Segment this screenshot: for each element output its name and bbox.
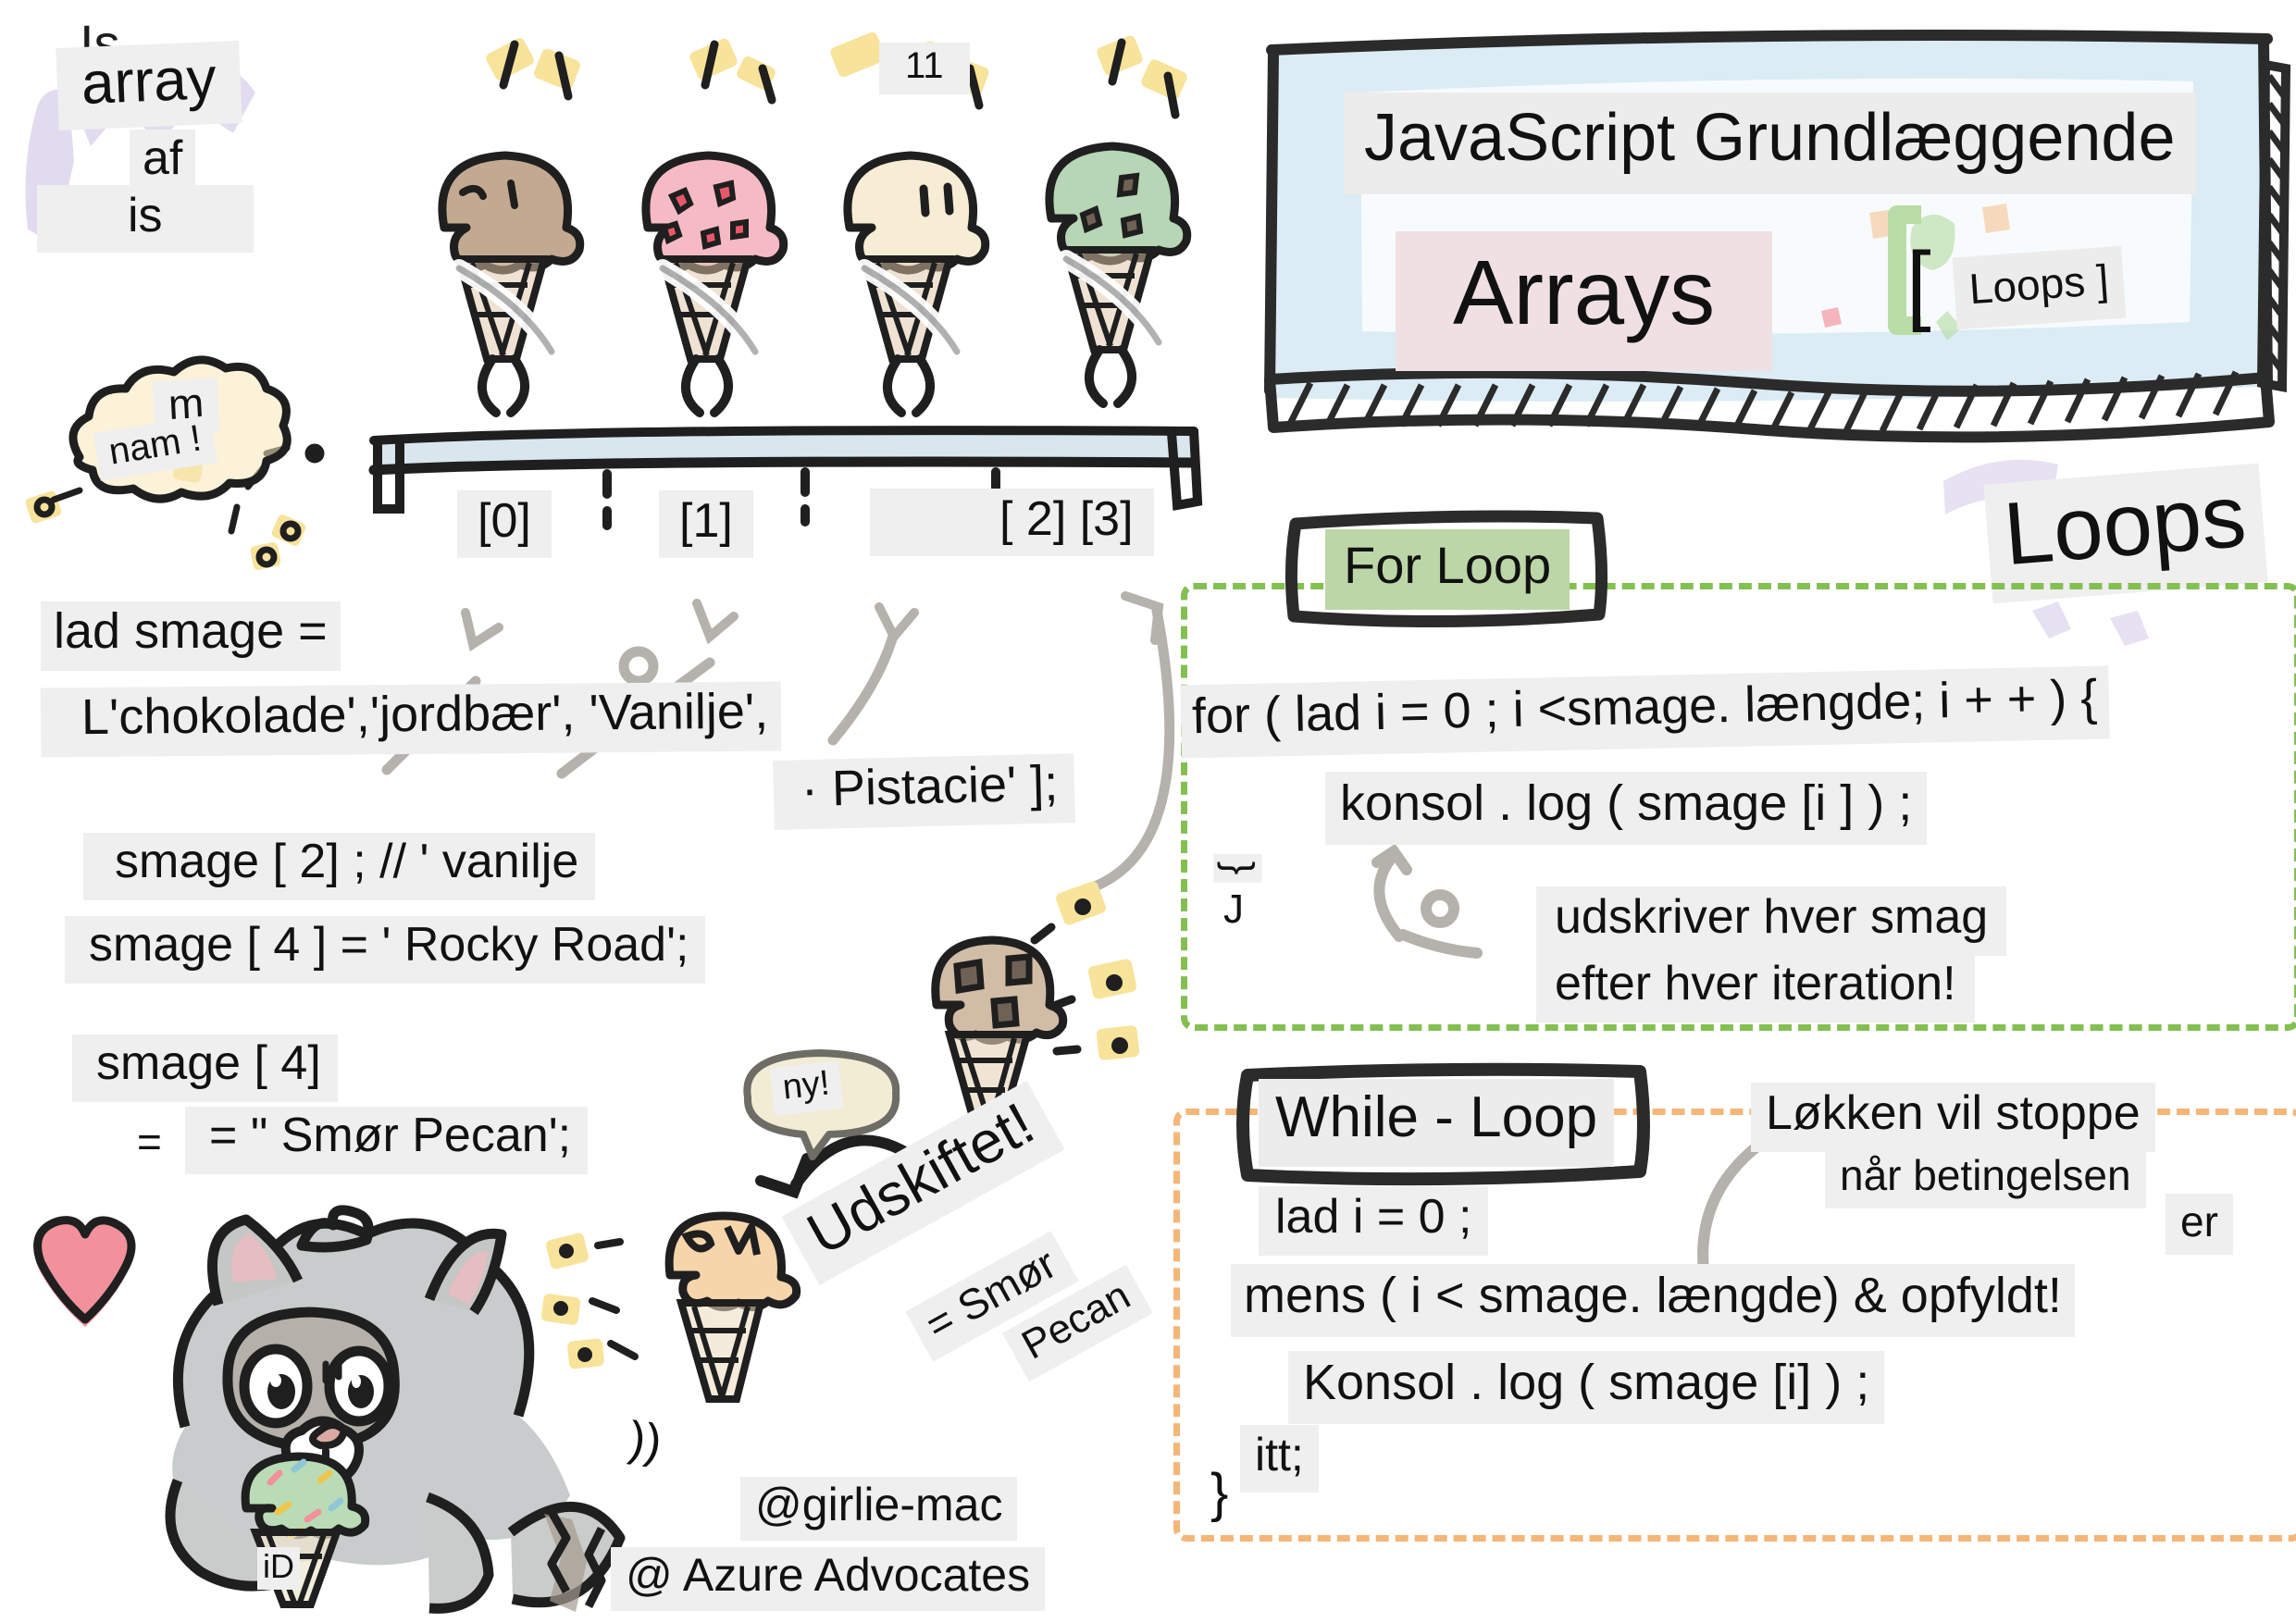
ice-cream-cone-2 — [813, 139, 1007, 416]
title-subtitle: JavaScript Grundlæggende — [1344, 93, 2196, 194]
equals-mark: = — [137, 1120, 162, 1164]
while-loop-code-line-4: itt; — [1240, 1425, 1319, 1493]
while-loop-code-line-3: Konsol . log ( smage [i] ) ; — [1288, 1351, 1884, 1424]
while-loop-code-line-2: mens ( i < smage. længde) & opfyldt! — [1231, 1264, 2075, 1337]
ice-cream-cone-1 — [611, 139, 805, 416]
for-loop-annotation-line-2: efter hver iteration! — [1536, 953, 1975, 1022]
word-array: array — [56, 41, 242, 130]
for-loop-annotation-line-1: udskriver hver smag — [1536, 886, 2006, 956]
while-loop-annotation-line-3: er — [2166, 1194, 2233, 1255]
code-line-assign-index-4: smage [ 4 ] = ' Rocky Road'; — [65, 916, 705, 984]
credit-handle[interactable]: @girlie-mac — [740, 1477, 1017, 1541]
sparkle-count-label: 11 — [879, 43, 970, 94]
word-is: is — [37, 185, 254, 253]
raccoon-icon — [56, 1203, 629, 1610]
for-loop-brace-tail: J — [1223, 888, 1244, 931]
ice-cream-cone-3 — [1014, 130, 1209, 407]
code-line-array-values: L'chokolade','jordbær', 'Vanilje', — [41, 682, 782, 758]
while-loop-label: While - Loop — [1259, 1079, 1614, 1167]
poster-canvas: Is array af is m nam ! 11 — [0, 0, 2296, 1618]
index-label-2-3: [ 2] [3] — [870, 489, 1154, 556]
while-loop-annotation-line-1: Løkken vil stoppe — [1751, 1083, 2155, 1152]
index-label-0: [0] — [457, 490, 552, 558]
code-line-array-close: · Pistacie' ]; — [773, 753, 1075, 830]
bracket-open-glyph: [ — [1906, 233, 1931, 335]
credit-org[interactable]: @ Azure Advocates — [611, 1547, 1045, 1611]
for-loop-label: For Loop — [1325, 529, 1570, 610]
for-loop-closing-brace: } — [1213, 854, 1261, 883]
code-line-access-index-2: smage [ 2] ; // ' vanilje — [83, 833, 595, 900]
ice-cream-cone-0 — [407, 139, 602, 416]
while-loop-code-line-1: lad i = 0 ; — [1259, 1186, 1488, 1256]
while-loop-closing-brace: } — [1210, 1466, 1228, 1522]
raccoon-signature: iD — [257, 1547, 300, 1590]
title-secondary: Loops ] — [1953, 246, 2127, 330]
while-loop-annotation-line-2: når betingelsen — [1825, 1147, 2146, 1208]
index-label-1: [1] — [659, 490, 753, 558]
code-line-smor-pecan: = " Smør Pecan'; — [185, 1107, 588, 1174]
title-main: Arrays — [1396, 231, 1772, 371]
for-loop-code-line-2: konsol . log ( smage [i ] ) ; — [1325, 772, 1927, 845]
new-badge-label: ny! — [769, 1060, 843, 1115]
code-line-read-index-4: smage [ 4] — [72, 1035, 338, 1102]
code-line-declaration: lad smage = — [41, 601, 341, 671]
stray-parens: )) — [626, 1414, 664, 1468]
